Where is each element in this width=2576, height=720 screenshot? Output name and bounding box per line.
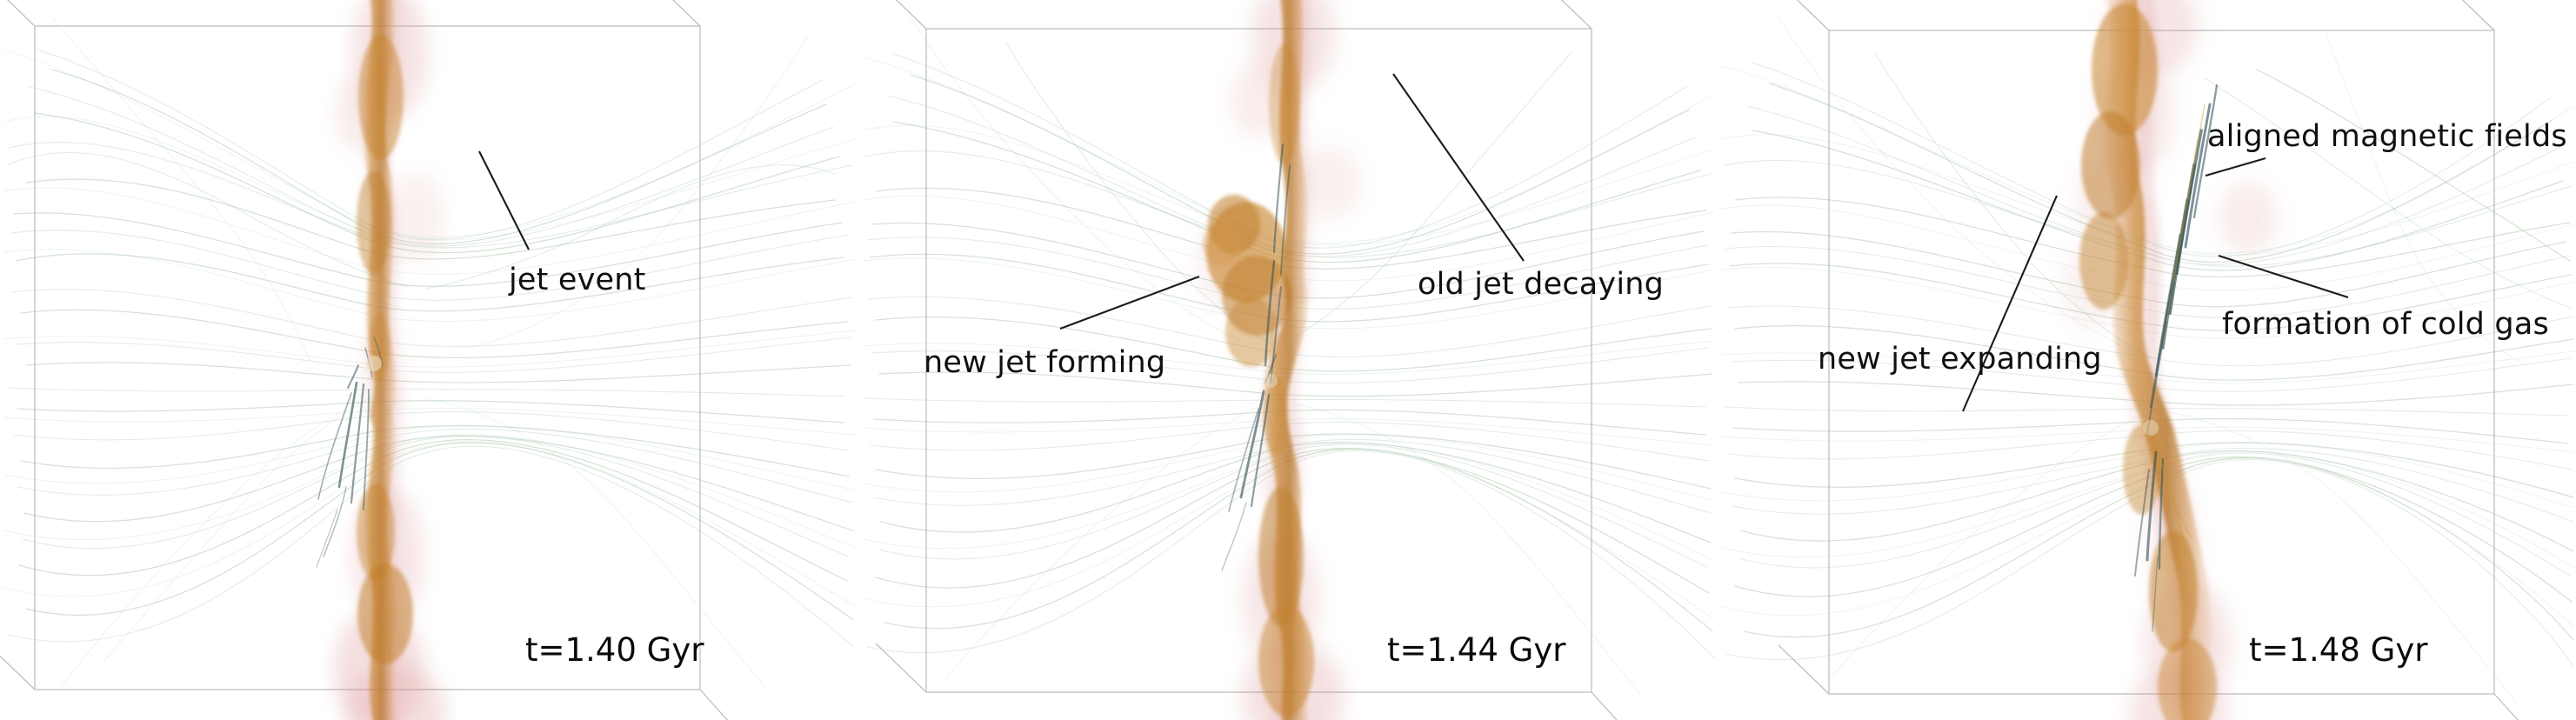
magnetic-field-lines-1 xyxy=(4,17,856,687)
central-knot-3 xyxy=(2143,420,2159,436)
annotation-new-jet-forming: new jet forming xyxy=(924,348,1165,378)
simulation-panel-3: aligned magnetic fields formation of col… xyxy=(1718,0,2576,720)
volume-render-1 xyxy=(0,0,858,720)
time-label-panel-1: t=1.40 Gyr xyxy=(525,634,704,666)
annotation-aligned-magnetic-fields: aligned magnetic fields xyxy=(2207,122,2567,152)
leader-line-old-jet-decaying xyxy=(1393,74,1524,261)
annotation-jet-event: jet event xyxy=(509,265,646,296)
time-label-panel-2: t=1.44 Gyr xyxy=(1387,634,1565,666)
leader-line-aligned-magnetic-fields xyxy=(2206,158,2266,176)
annotation-new-jet-expanding: new jet expanding xyxy=(1818,344,2102,375)
simulation-panel-2: new jet forming old jet decaying t=1.44 … xyxy=(858,0,1717,720)
annotation-old-jet-decaying: old jet decaying xyxy=(1418,270,1664,300)
leader-line-new-jet-forming xyxy=(1060,277,1199,329)
simulation-panel-1: jet event t=1.40 Gyr xyxy=(0,0,858,720)
jet-simulation-figure: jet event t=1.40 Gyr xyxy=(0,0,2576,720)
annotation-formation-of-cold-gas: formation of cold gas xyxy=(2222,310,2549,340)
time-label-panel-3: t=1.48 Gyr xyxy=(2249,634,2427,666)
central-knot-1 xyxy=(366,356,382,371)
central-knot-2 xyxy=(1264,374,1278,388)
